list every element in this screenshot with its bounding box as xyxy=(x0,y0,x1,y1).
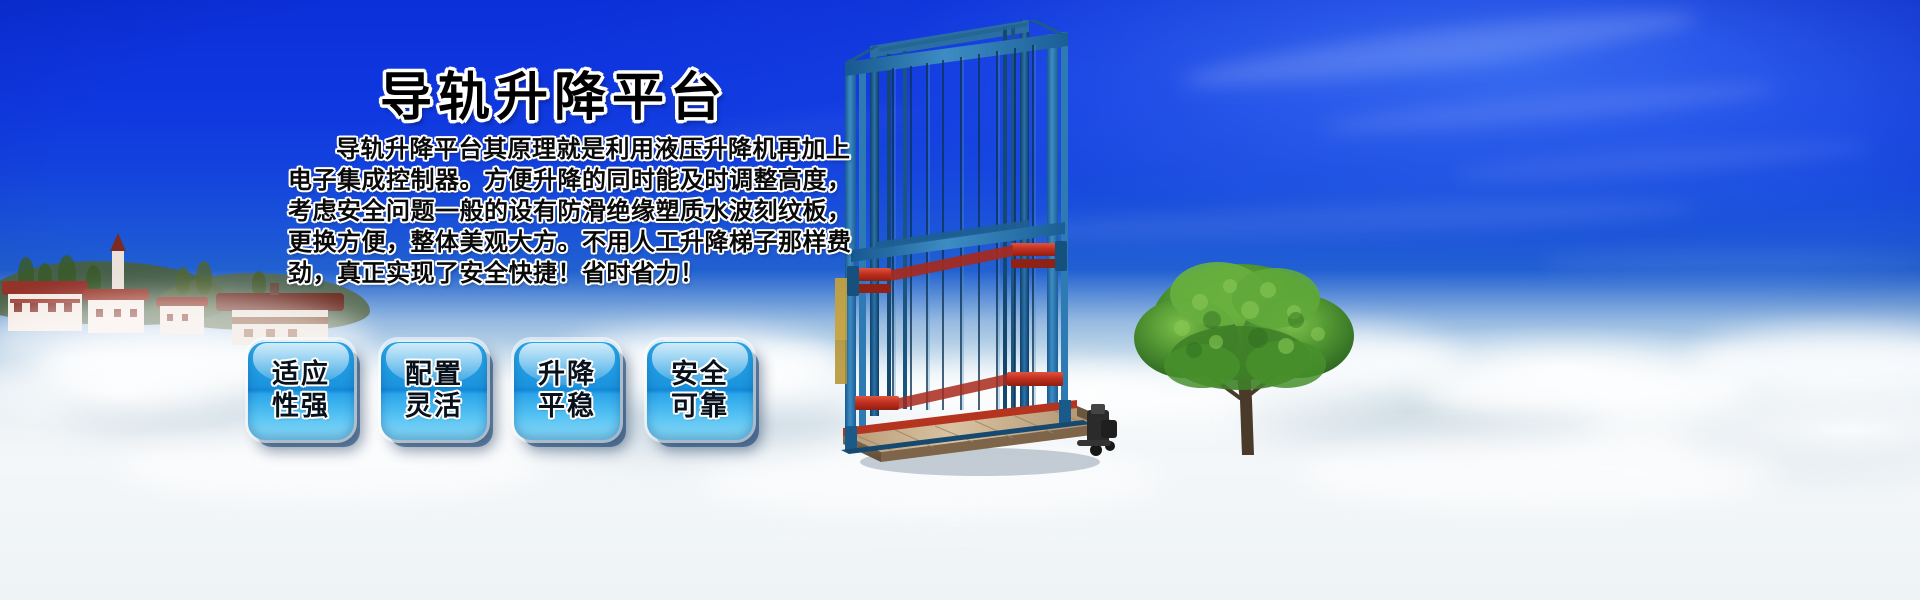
feature-button-smooth-lifting[interactable]: 升降 平稳 xyxy=(514,340,620,440)
feature-button-label: 升降 平稳 xyxy=(538,358,596,422)
feature-button-adaptability[interactable]: 适应 性强 xyxy=(248,340,354,440)
tree-svg xyxy=(1090,250,1420,460)
description-line: 电子集成控制器。方便升降的同时能及时调整高度， xyxy=(288,165,764,196)
tree-scenery xyxy=(1090,250,1420,460)
description-block: 导轨升降平台其原理就是利用液压升降机再加上 电子集成控制器。方便升降的同时能及时… xyxy=(288,134,764,289)
description-line: 更换方便，整体美观大方。不用人工升降梯子那样费 xyxy=(288,227,764,258)
feature-button-label: 安全 可靠 xyxy=(671,358,729,422)
feature-button-line2: 性强 xyxy=(272,390,330,422)
description-line: 导轨升降平台其原理就是利用液压升降机再加上 xyxy=(288,134,764,165)
description-line: 劲，真正实现了安全快捷！省时省力！ xyxy=(288,258,764,289)
feature-button-label: 配置 灵活 xyxy=(405,358,463,422)
feature-button-line1: 升降 xyxy=(538,358,596,390)
feature-button-configuration[interactable]: 配置 灵活 xyxy=(381,340,487,440)
feature-button-label: 适应 性强 xyxy=(272,358,330,422)
description-line: 考虑安全问题一般的设有防滑绝缘塑质水波刻纹板， xyxy=(288,196,764,227)
feature-button-safety[interactable]: 安全 可靠 xyxy=(647,340,753,440)
feature-button-line1: 适应 xyxy=(272,358,330,390)
feature-button-line2: 平稳 xyxy=(538,390,596,422)
feature-button-line2: 灵活 xyxy=(405,390,463,422)
feature-button-line2: 可靠 xyxy=(671,390,729,422)
feature-button-line1: 配置 xyxy=(405,358,463,390)
feature-button-row: 适应 性强 配置 灵活 升降 平稳 安全 可靠 xyxy=(248,340,753,440)
feature-button-line1: 安全 xyxy=(671,358,729,390)
product-banner: 导轨升降平台 导轨升降平台其原理就是利用液压升降机再加上 电子集成控制器。方便升… xyxy=(0,0,1920,600)
page-title: 导轨升降平台 xyxy=(380,55,728,130)
